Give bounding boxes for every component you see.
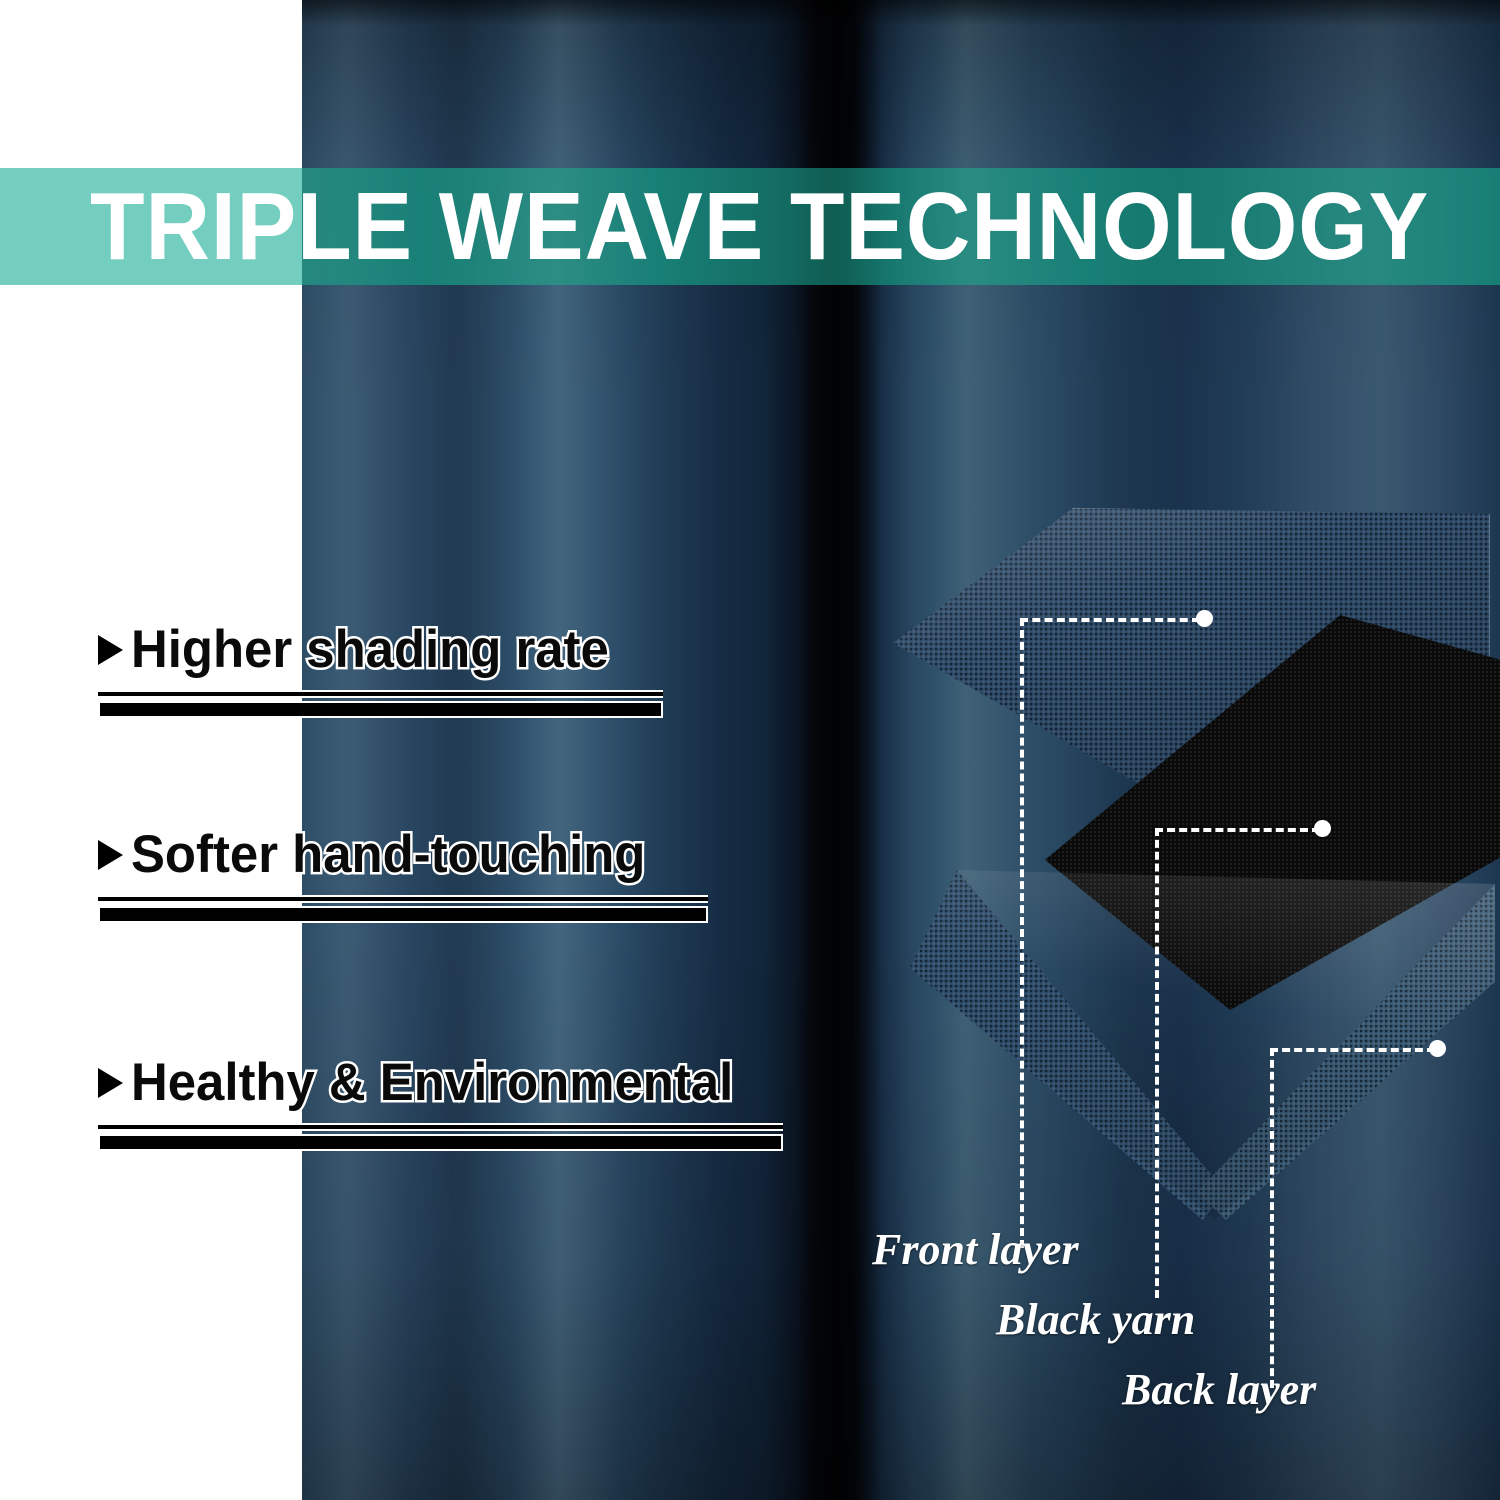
label-black-yarn: Black yarn xyxy=(996,1298,1195,1342)
callout-line-back-v xyxy=(1270,1048,1274,1388)
feature-row: Higher shading rate xyxy=(98,622,698,678)
feature-underline xyxy=(98,1123,783,1151)
triangle-right-icon xyxy=(98,1068,123,1098)
underline-thin-bar xyxy=(98,895,708,903)
callout-dot-back xyxy=(1429,1040,1446,1057)
feature-label: Higher shading rate xyxy=(131,622,609,678)
banner: TRIPLE WEAVE TECHNOLOGY xyxy=(0,168,1500,285)
feature-underline xyxy=(98,895,708,923)
underline-thick-bar xyxy=(98,701,663,718)
callout-dot-yarn xyxy=(1314,820,1331,837)
page-title: TRIPLE WEAVE TECHNOLOGY xyxy=(90,168,1429,285)
label-front-layer: Front layer xyxy=(872,1228,1079,1272)
callout-line-front-h xyxy=(1020,618,1200,622)
fabric-layer-diagram xyxy=(880,420,1500,1250)
underline-thin-bar xyxy=(98,690,663,698)
underline-thick-bar xyxy=(98,1134,783,1151)
feature-row: Softer hand-touching xyxy=(98,827,738,883)
underline-thick-bar xyxy=(98,906,708,923)
callout-line-yarn-v xyxy=(1155,828,1159,1298)
callout-dot-front xyxy=(1196,610,1213,627)
callout-line-front-v xyxy=(1020,618,1024,1248)
callout-line-yarn-h xyxy=(1155,828,1320,832)
feature-row: Healthy & Environmental xyxy=(98,1055,808,1111)
triangle-right-icon xyxy=(98,840,123,870)
feature-label: Healthy & Environmental xyxy=(131,1055,733,1111)
feature-label: Softer hand-touching xyxy=(131,827,645,883)
product-feature-image: TRIPLE WEAVE TECHNOLOGY Higher shading r… xyxy=(0,0,1500,1500)
feature-item-3: Healthy & Environmental xyxy=(98,1055,808,1151)
label-back-layer: Back layer xyxy=(1122,1368,1316,1412)
curtain-top-shadow xyxy=(302,0,1500,26)
feature-item-1: Higher shading rate xyxy=(98,622,698,718)
callout-line-back-h xyxy=(1270,1048,1435,1052)
back-layer-shading xyxy=(910,870,1495,1220)
triangle-right-icon xyxy=(98,635,123,665)
feature-item-2: Softer hand-touching xyxy=(98,827,738,923)
underline-thin-bar xyxy=(98,1123,783,1131)
feature-underline xyxy=(98,690,663,718)
